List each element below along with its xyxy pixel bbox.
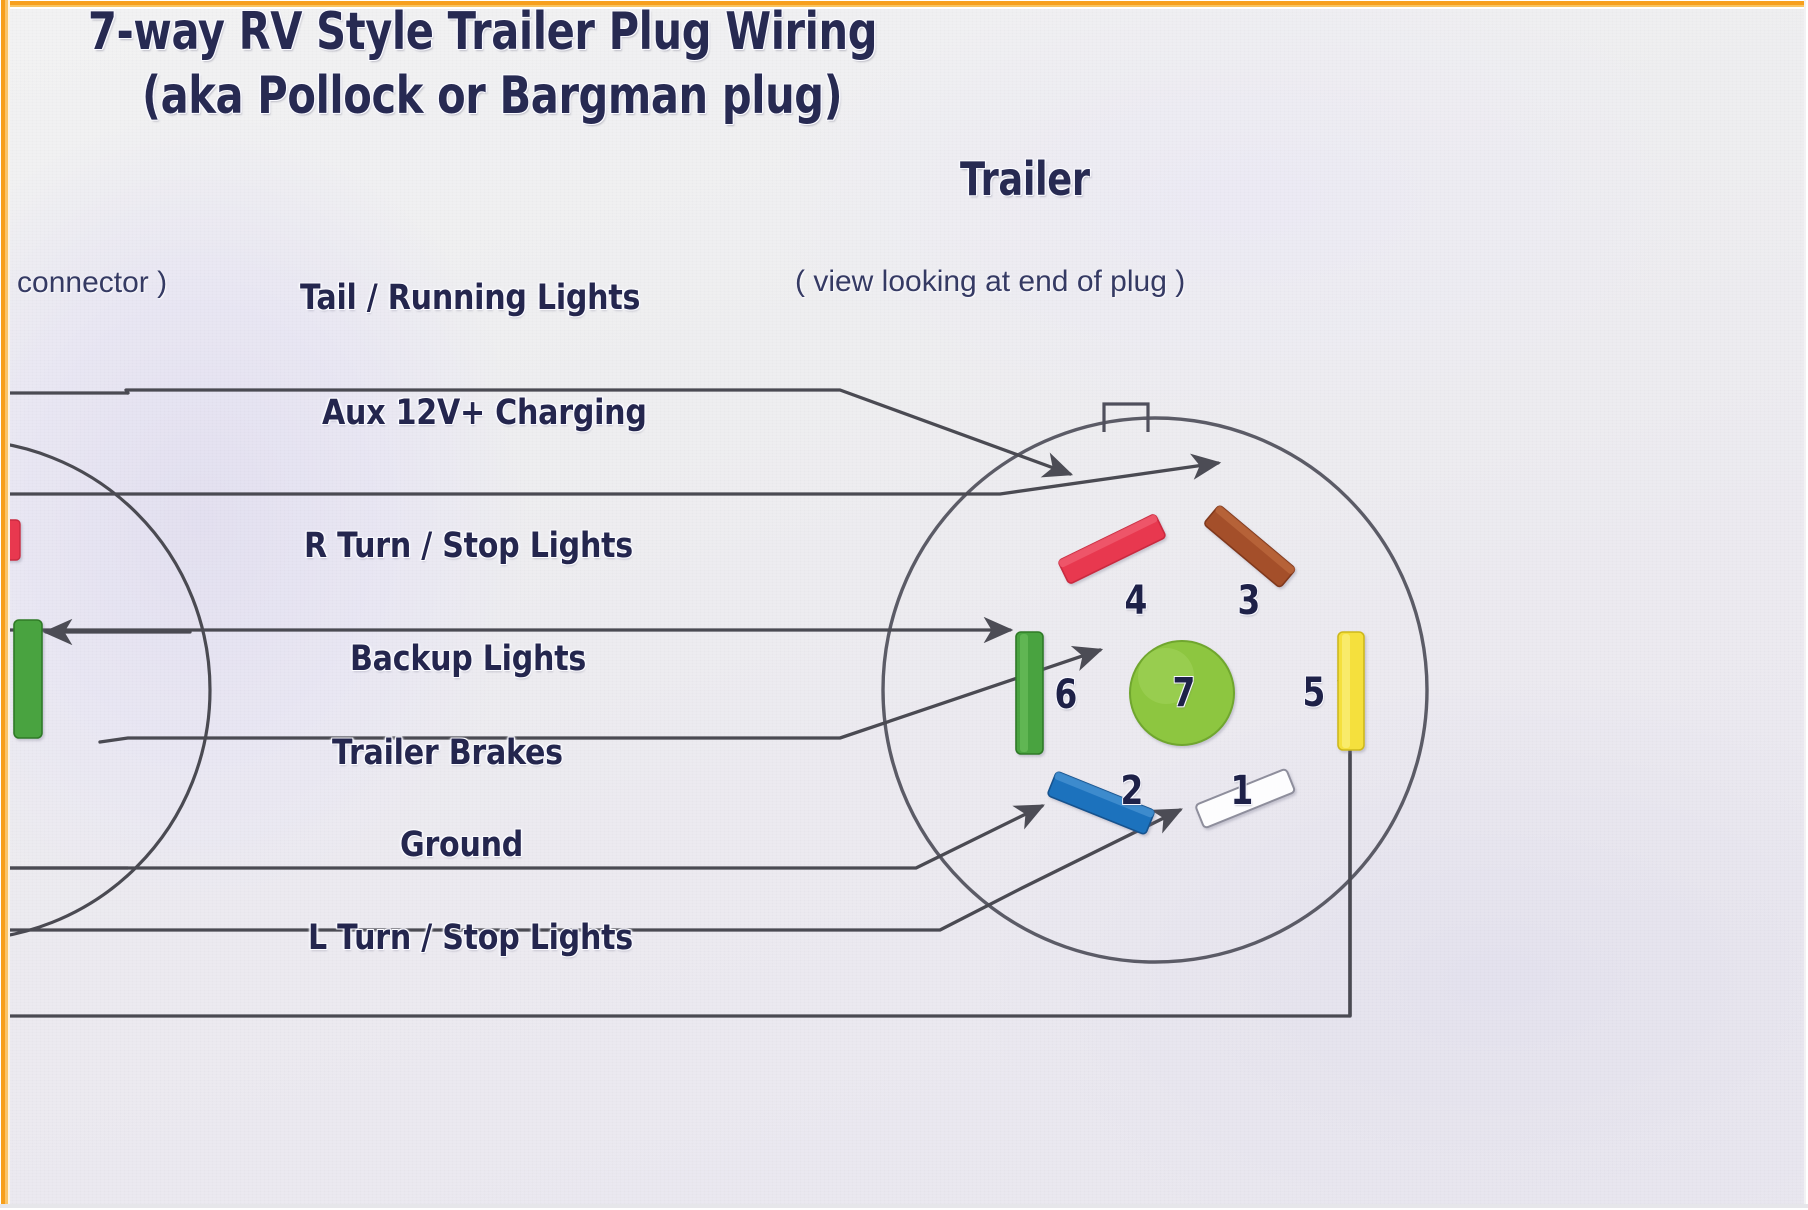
wire-label-backup-lights: Backup Lights	[350, 639, 586, 679]
trailer-section-heading: Trailer	[960, 152, 1090, 206]
pin-6-blade	[1016, 632, 1043, 754]
wire-label-left-turn-stop: L Turn / Stop Lights	[308, 918, 633, 958]
wire-label-tail-running-lights: Tail / Running Lights	[300, 278, 640, 318]
pin-3-blade	[1203, 505, 1296, 588]
vehicle-connector-note: o connector )	[0, 266, 167, 300]
wiring-artwork	[0, 0, 1808, 1210]
page-title-line-2: (aka Pollock or Bargman plug)	[142, 66, 842, 126]
pin-number-4: 4	[1125, 578, 1148, 624]
pin-5-blade	[1338, 632, 1364, 750]
wire-route-left-turn-stop	[0, 754, 1350, 1016]
scan-border-bottom	[0, 1204, 1808, 1210]
pin-number-3: 3	[1238, 578, 1261, 624]
pin-number-2: 2	[1121, 768, 1144, 814]
plug-view-note: ( view looking at end of plug )	[795, 265, 1185, 299]
wire-label-aux-charging: Aux 12V+ Charging	[322, 393, 647, 433]
pin-4-blade	[1058, 514, 1166, 585]
wire-label-ground: Ground	[400, 825, 523, 865]
scan-border-left	[0, 0, 10, 1210]
pin-number-6: 6	[1055, 672, 1078, 718]
wire-route-aux-charging	[0, 463, 1218, 498]
scan-border-right	[1804, 0, 1808, 1210]
page-title-line-1: 7-way RV Style Trailer Plug Wiring	[88, 2, 877, 62]
pin-number-1: 1	[1231, 768, 1254, 814]
pin-number-7: 7	[1173, 670, 1196, 716]
scan-border-top	[0, 0, 1808, 9]
wire-route-backup-lights	[100, 650, 1100, 742]
wire-route-ground	[0, 810, 1180, 930]
wire-label-trailer-brakes: Trailer Brakes	[332, 733, 563, 773]
pin-number-5: 5	[1303, 670, 1326, 716]
wiring-diagram-page: 7-way RV Style Trailer Plug Wiring (aka …	[0, 0, 1808, 1210]
wire-label-right-turn-stop: R Turn / Stop Lights	[304, 526, 633, 566]
